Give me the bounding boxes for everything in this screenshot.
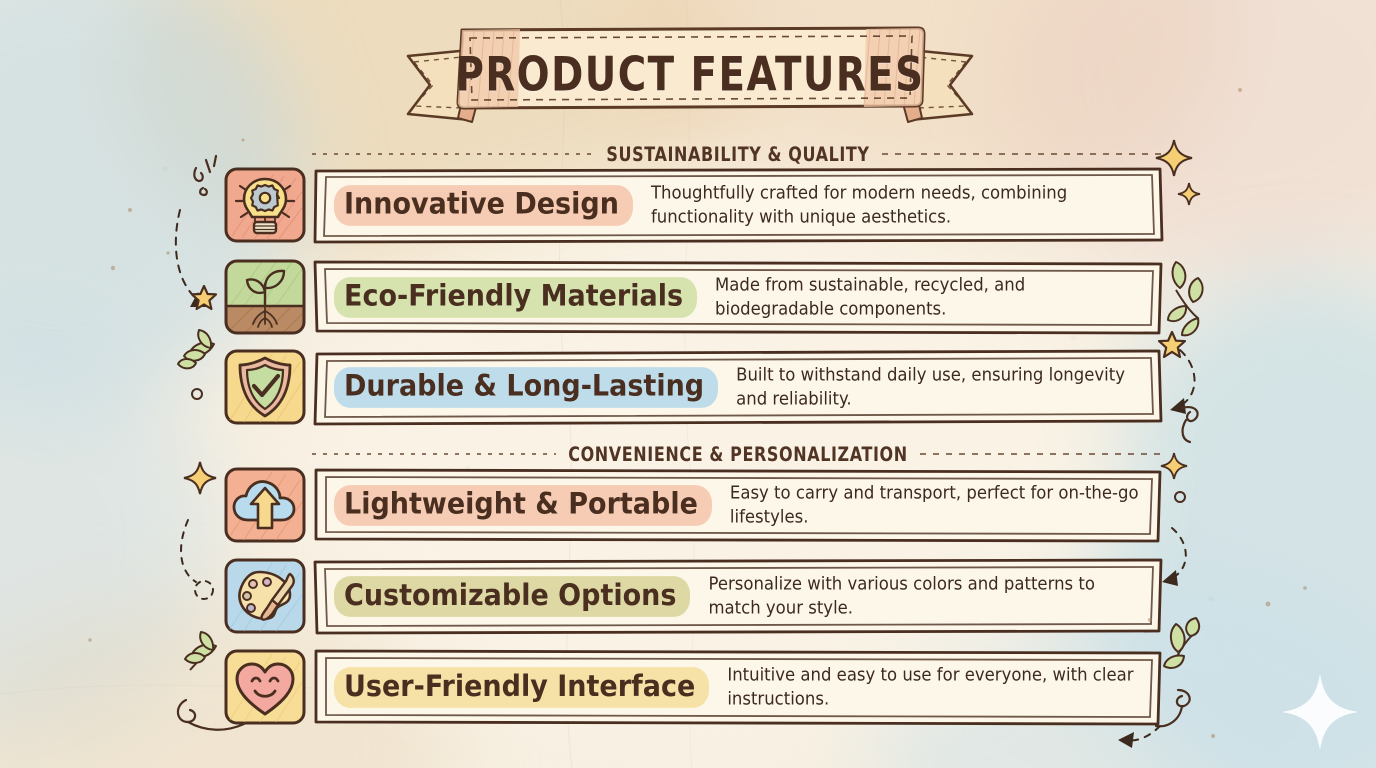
section-divider-right: [920, 453, 1164, 455]
palette-brush-icon: [222, 557, 308, 635]
dashed-curved-arrow-icon: [1162, 528, 1186, 586]
feature-bar[interactable]: Customizable Options Personalize with va…: [312, 557, 1164, 635]
feature-title: Customizable Options: [334, 576, 690, 617]
title-ribbon: PRODUCT FEATURES: [400, 18, 980, 126]
smiling-heart-icon: [222, 648, 308, 726]
feature-bar[interactable]: User-Friendly Interface Intuitive and ea…: [312, 648, 1164, 726]
four-point-sparkle-icon: [1282, 674, 1358, 750]
feature-description: Personalize with various colors and patt…: [708, 572, 1144, 620]
feature-description: Thoughtfully crafted for modern needs, c…: [651, 181, 1144, 229]
four-point-sparkle-icon: [1178, 183, 1200, 205]
feature-bar[interactable]: Eco-Friendly Materials Made from sustain…: [312, 258, 1164, 336]
feature-description: Made from sustainable, recycled, and bio…: [715, 273, 1144, 321]
leaf-branch-icon: [1164, 618, 1199, 668]
feature-bar[interactable]: Innovative Design Thoughtfully crafted f…: [312, 166, 1164, 244]
paper-wash-blue-left-lower: [0, 330, 220, 750]
dashed-curved-arrow-icon: [1170, 350, 1195, 414]
section-divider-left: [312, 153, 594, 155]
feature-title: Durable & Long-Lasting: [334, 367, 718, 408]
feature-description: Intuitive and easy to use for everyone, …: [727, 663, 1144, 711]
dashed-curved-arrow-icon: [176, 210, 206, 307]
feature-bar[interactable]: Durable & Long-Lasting Built to withstan…: [312, 348, 1164, 426]
four-point-sparkle-icon: [184, 462, 216, 494]
leaf-branch-icon: [178, 330, 214, 368]
shield-check-icon: [222, 348, 308, 426]
four-point-sparkle-icon: [1161, 453, 1187, 479]
feature-title: Innovative Design: [334, 185, 633, 226]
spark-burst-icon: [194, 156, 216, 195]
page-title: PRODUCT FEATURES: [409, 48, 972, 102]
five-point-star-icon: [192, 286, 216, 309]
section-header-sustainability: SUSTAINABILITY & QUALITY: [312, 143, 1164, 165]
section-header-convenience: CONVENIENCE & PERSONALIZATION: [312, 443, 1164, 465]
section-label: SUSTAINABILITY & QUALITY: [606, 143, 869, 166]
leaf-branch-icon: [1168, 262, 1203, 335]
feature-title: User-Friendly Interface: [334, 667, 709, 708]
lightbulb-gear-icon: [222, 166, 308, 244]
dashed-swirl-icon: [181, 520, 213, 599]
feature-title: Lightweight & Portable: [334, 485, 712, 526]
feature-bar[interactable]: Lightweight & Portable Easy to carry and…: [312, 466, 1164, 544]
small-circle-doodle-icon: [192, 389, 202, 399]
small-circle-doodle-icon: [1175, 492, 1185, 502]
feature-description: Built to withstand daily use, ensuring l…: [736, 363, 1144, 411]
feature-description: Easy to carry and transport, perfect for…: [730, 481, 1144, 529]
leaf-branch-icon: [185, 632, 216, 670]
section-divider-right: [882, 153, 1164, 155]
cloud-upload-icon: [222, 466, 308, 544]
section-divider-left: [312, 453, 556, 455]
infographic-canvas: PRODUCT FEATURES SUSTAINABILITY & QUALIT…: [0, 0, 1376, 768]
section-label: CONVENIENCE & PERSONALIZATION: [568, 443, 908, 466]
swirl-doodle-icon: [1182, 407, 1198, 442]
dashed-curved-arrow-icon: [1118, 726, 1160, 748]
feature-title: Eco-Friendly Materials: [334, 277, 697, 318]
seedling-soil-icon: [222, 258, 308, 336]
